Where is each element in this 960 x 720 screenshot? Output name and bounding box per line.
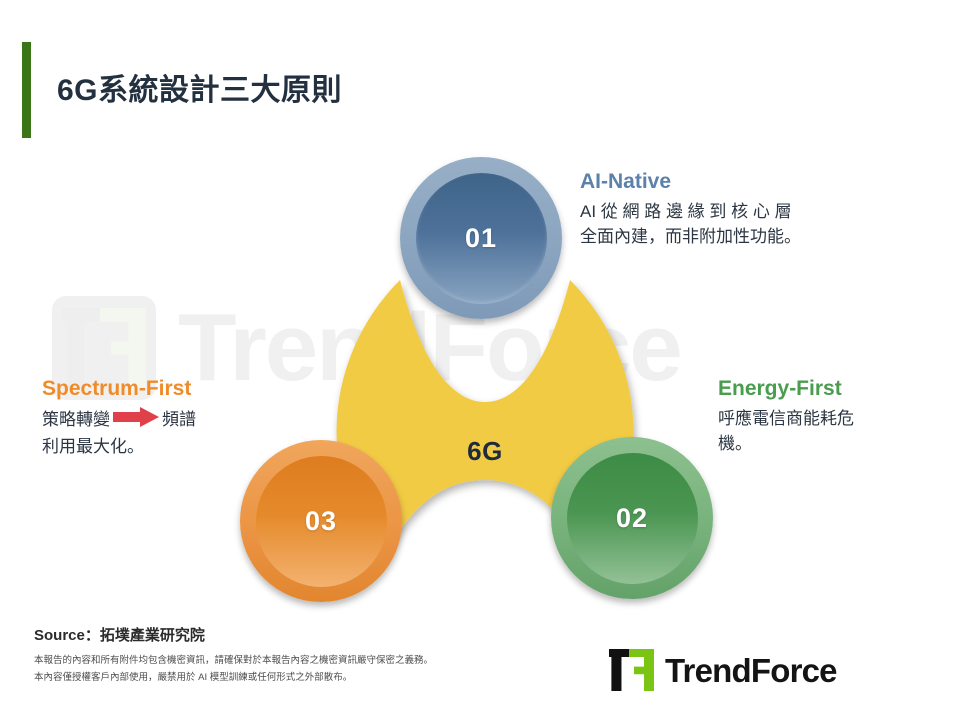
callout-spectrum-first-line1: 策略轉變頻譜: [42, 407, 317, 435]
node-circle-01[interactable]: 01: [400, 157, 562, 319]
node-circle-02[interactable]: 02: [551, 437, 713, 599]
callout-ai-native-line2: 全面內建，而非附加性功能。: [580, 225, 910, 250]
callout-spectrum-first-heading: Spectrum-First: [42, 377, 317, 401]
callout-energy-first: Energy-First 呼應電信商能耗危 機。: [718, 377, 943, 456]
right-arrow-icon: [113, 407, 159, 435]
callout-spectrum-first: Spectrum-First 策略轉變頻譜 利用最大化。: [42, 377, 317, 459]
node-number-01: 01: [416, 173, 547, 304]
node-number-03: 03: [256, 456, 387, 587]
callout-ai-native-body: AI 從 網 路 邊 緣 到 核 心 層 全面內建，而非附加性功能。: [580, 200, 910, 249]
title-accent-bar: [22, 42, 31, 138]
callout-ai-native: AI-Native AI 從 網 路 邊 緣 到 核 心 層 全面內建，而非附加…: [580, 170, 910, 249]
disclaimer-line-1: 本報告的內容和所有附件均包含機密資訊，請確保對於本報告內容之機密資訊嚴守保密之義…: [34, 653, 433, 670]
disclaimer-line-2: 本內容僅授權客戶內部使用，嚴禁用於 AI 模型訓練或任何形式之外部散布。: [34, 670, 433, 687]
trendforce-logo-icon: [606, 645, 656, 695]
callout-energy-first-line1: 呼應電信商能耗危: [718, 407, 943, 432]
callout-ai-native-line1: AI 從 網 路 邊 緣 到 核 心 層: [580, 200, 910, 225]
callout-spectrum-first-line1-after: 頻譜: [162, 410, 196, 429]
node-circle-03[interactable]: 03: [240, 440, 402, 602]
center-label: 6G: [430, 436, 540, 467]
callout-spectrum-first-line1-before: 策略轉變: [42, 410, 110, 429]
callout-ai-native-heading: AI-Native: [580, 170, 910, 194]
trendforce-logo-wordmark: TrendForce: [665, 654, 837, 687]
watermark-logo-a-shape: [100, 308, 146, 388]
trendforce-logo: TrendForce: [606, 645, 837, 695]
node-number-02: 02: [567, 453, 698, 584]
callout-spectrum-first-line2: 利用最大化。: [42, 435, 317, 460]
logo-a-shape: [629, 649, 654, 691]
watermark-logo-seven-shape: [62, 308, 108, 388]
callout-energy-first-heading: Energy-First: [718, 377, 943, 401]
callout-energy-first-body: 呼應電信商能耗危 機。: [718, 407, 943, 456]
source-line: Source：拓墣產業研究院: [34, 624, 205, 645]
slide-canvas: TrendForce 6G系統設計三大原則 6G 01 02 03 AI-Nat…: [0, 0, 960, 720]
callout-energy-first-line2: 機。: [718, 432, 943, 457]
disclaimer: 本報告的內容和所有附件均包含機密資訊，請確保對於本報告內容之機密資訊嚴守保密之義…: [34, 653, 433, 686]
callout-spectrum-first-body: 策略轉變頻譜 利用最大化。: [42, 407, 317, 459]
page-title: 6G系統設計三大原則: [57, 65, 342, 109]
